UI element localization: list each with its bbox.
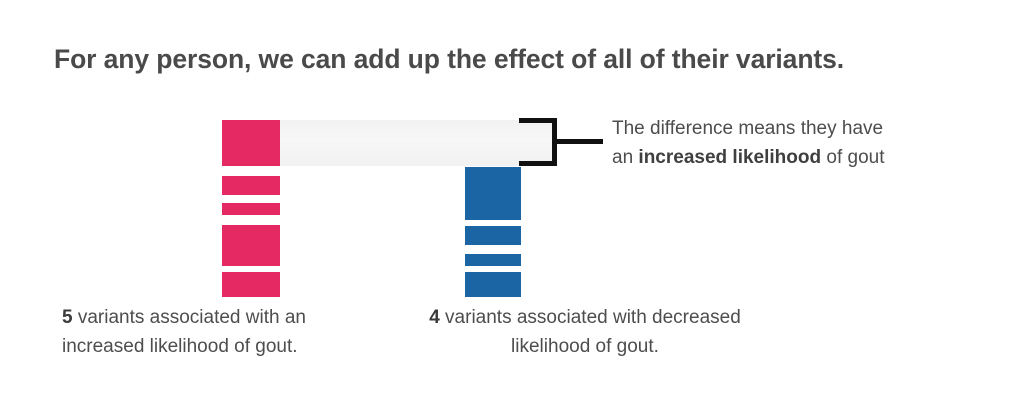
difference-bracket-icon bbox=[519, 118, 603, 166]
bracket-stem bbox=[555, 139, 603, 144]
difference-annotation: The difference means they have an increa… bbox=[612, 114, 992, 172]
caption-increase-count: 5 bbox=[62, 307, 73, 328]
caption-increase-text: variants associated with an increased li… bbox=[62, 307, 306, 357]
caption-decrease-count: 4 bbox=[429, 307, 440, 328]
caption-decrease-text: variants associated with decreased likel… bbox=[440, 307, 741, 357]
decrease-segment-3 bbox=[465, 254, 521, 266]
annotation-line-1: The difference means they have bbox=[612, 114, 992, 143]
increase-segment-2 bbox=[222, 176, 280, 195]
increase-segment-4 bbox=[222, 225, 280, 266]
decrease-segment-1 bbox=[465, 167, 521, 220]
increase-segment-5 bbox=[222, 272, 280, 297]
increase-segment-3 bbox=[222, 203, 280, 215]
annotation-line-2: an increased likelihood of gout bbox=[612, 143, 992, 172]
increase-segment-1 bbox=[222, 120, 280, 166]
annotation-emphasis: increased likelihood bbox=[638, 147, 821, 168]
annotation-suffix: of gout bbox=[821, 147, 884, 168]
caption-increase: 5 variants associated with an increased … bbox=[62, 303, 392, 361]
bracket-arm-bottom bbox=[519, 161, 557, 166]
annotation-prefix: an bbox=[612, 147, 638, 168]
decrease-segment-2 bbox=[465, 226, 521, 245]
caption-decrease: 4 variants associated with decreased lik… bbox=[420, 303, 750, 361]
infographic-canvas: For any person, we can add up the effect… bbox=[0, 0, 1024, 405]
decrease-segment-4 bbox=[465, 272, 521, 297]
difference-track-bar bbox=[280, 120, 557, 166]
